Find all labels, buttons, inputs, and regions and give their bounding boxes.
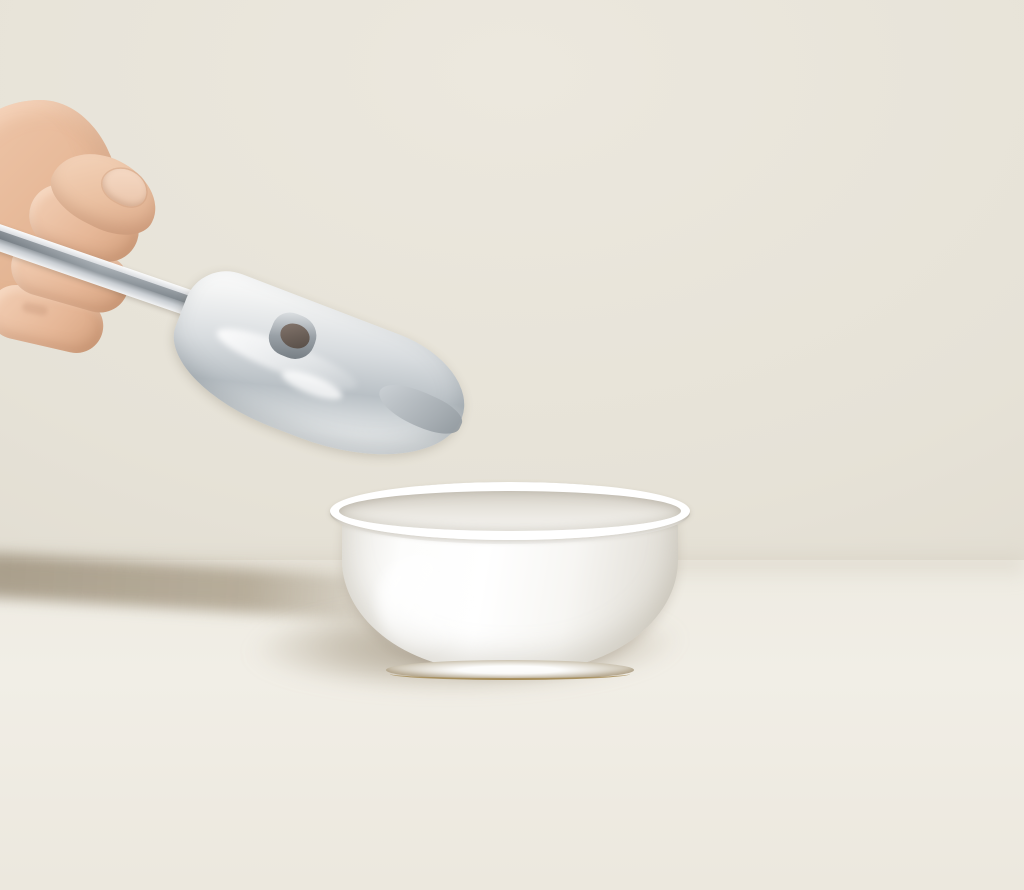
bowl-highlight (378, 554, 468, 650)
food-scoop (0, 196, 500, 446)
bowl-rim (330, 482, 690, 540)
bowl-foot-ring (390, 668, 630, 680)
ceramic-bowl (330, 482, 690, 682)
product-photo-callout-scene (0, 0, 1024, 890)
